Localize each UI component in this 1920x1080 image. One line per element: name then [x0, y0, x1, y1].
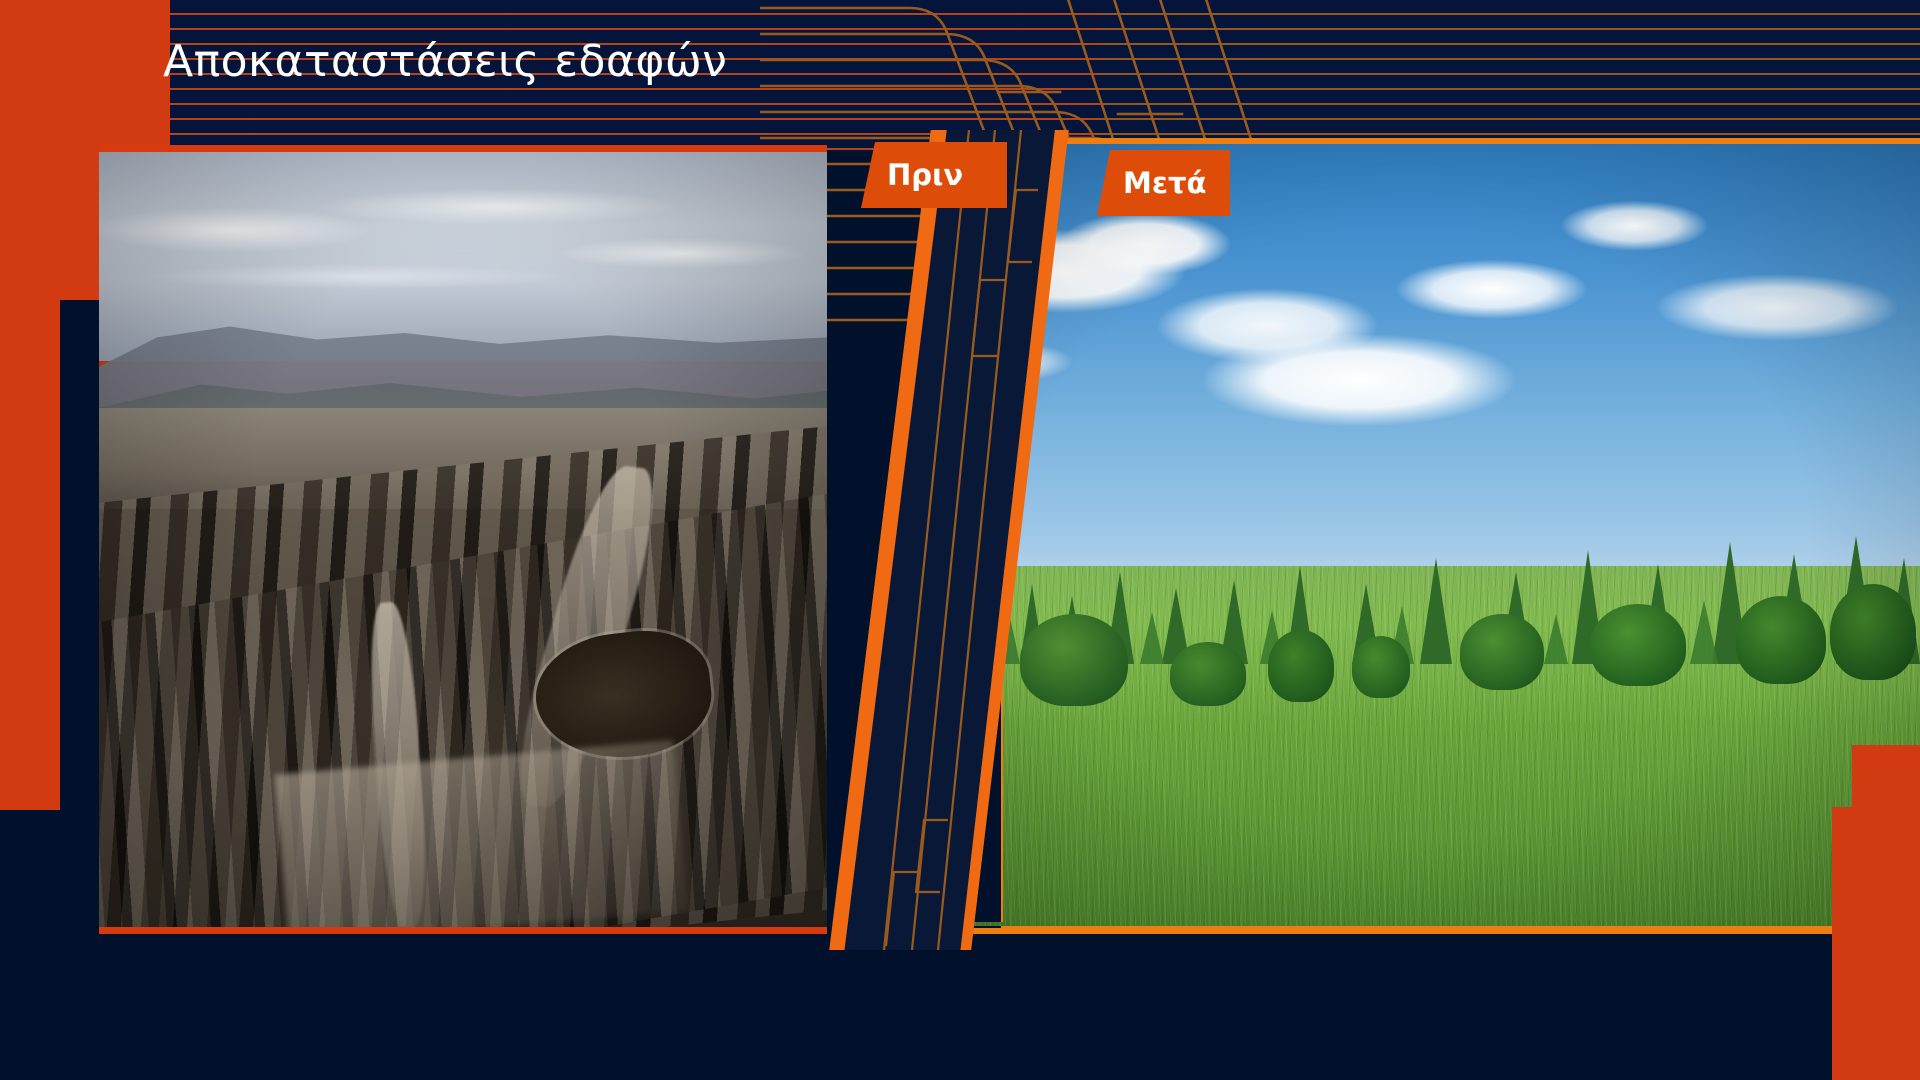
badge-after[interactable]: Μετά — [1097, 150, 1230, 216]
before-vignette — [99, 152, 827, 927]
after-image-panel — [900, 138, 1920, 938]
bottom-left-orange-tab — [0, 660, 60, 810]
badge-after-label: Μετά — [1123, 166, 1206, 200]
slide-stage: Αποκαταστάσεις εδαφών — [0, 0, 1920, 1080]
badge-before[interactable]: Πριν — [861, 142, 1007, 208]
after-vignette — [900, 144, 1920, 926]
badge-before-label: Πριν — [887, 158, 963, 192]
before-image-panel — [99, 145, 827, 935]
after-photo — [900, 144, 1920, 926]
slide-title: Αποκαταστάσεις εδαφών — [163, 36, 727, 89]
before-photo — [99, 152, 827, 927]
footer-band — [0, 934, 1920, 1080]
